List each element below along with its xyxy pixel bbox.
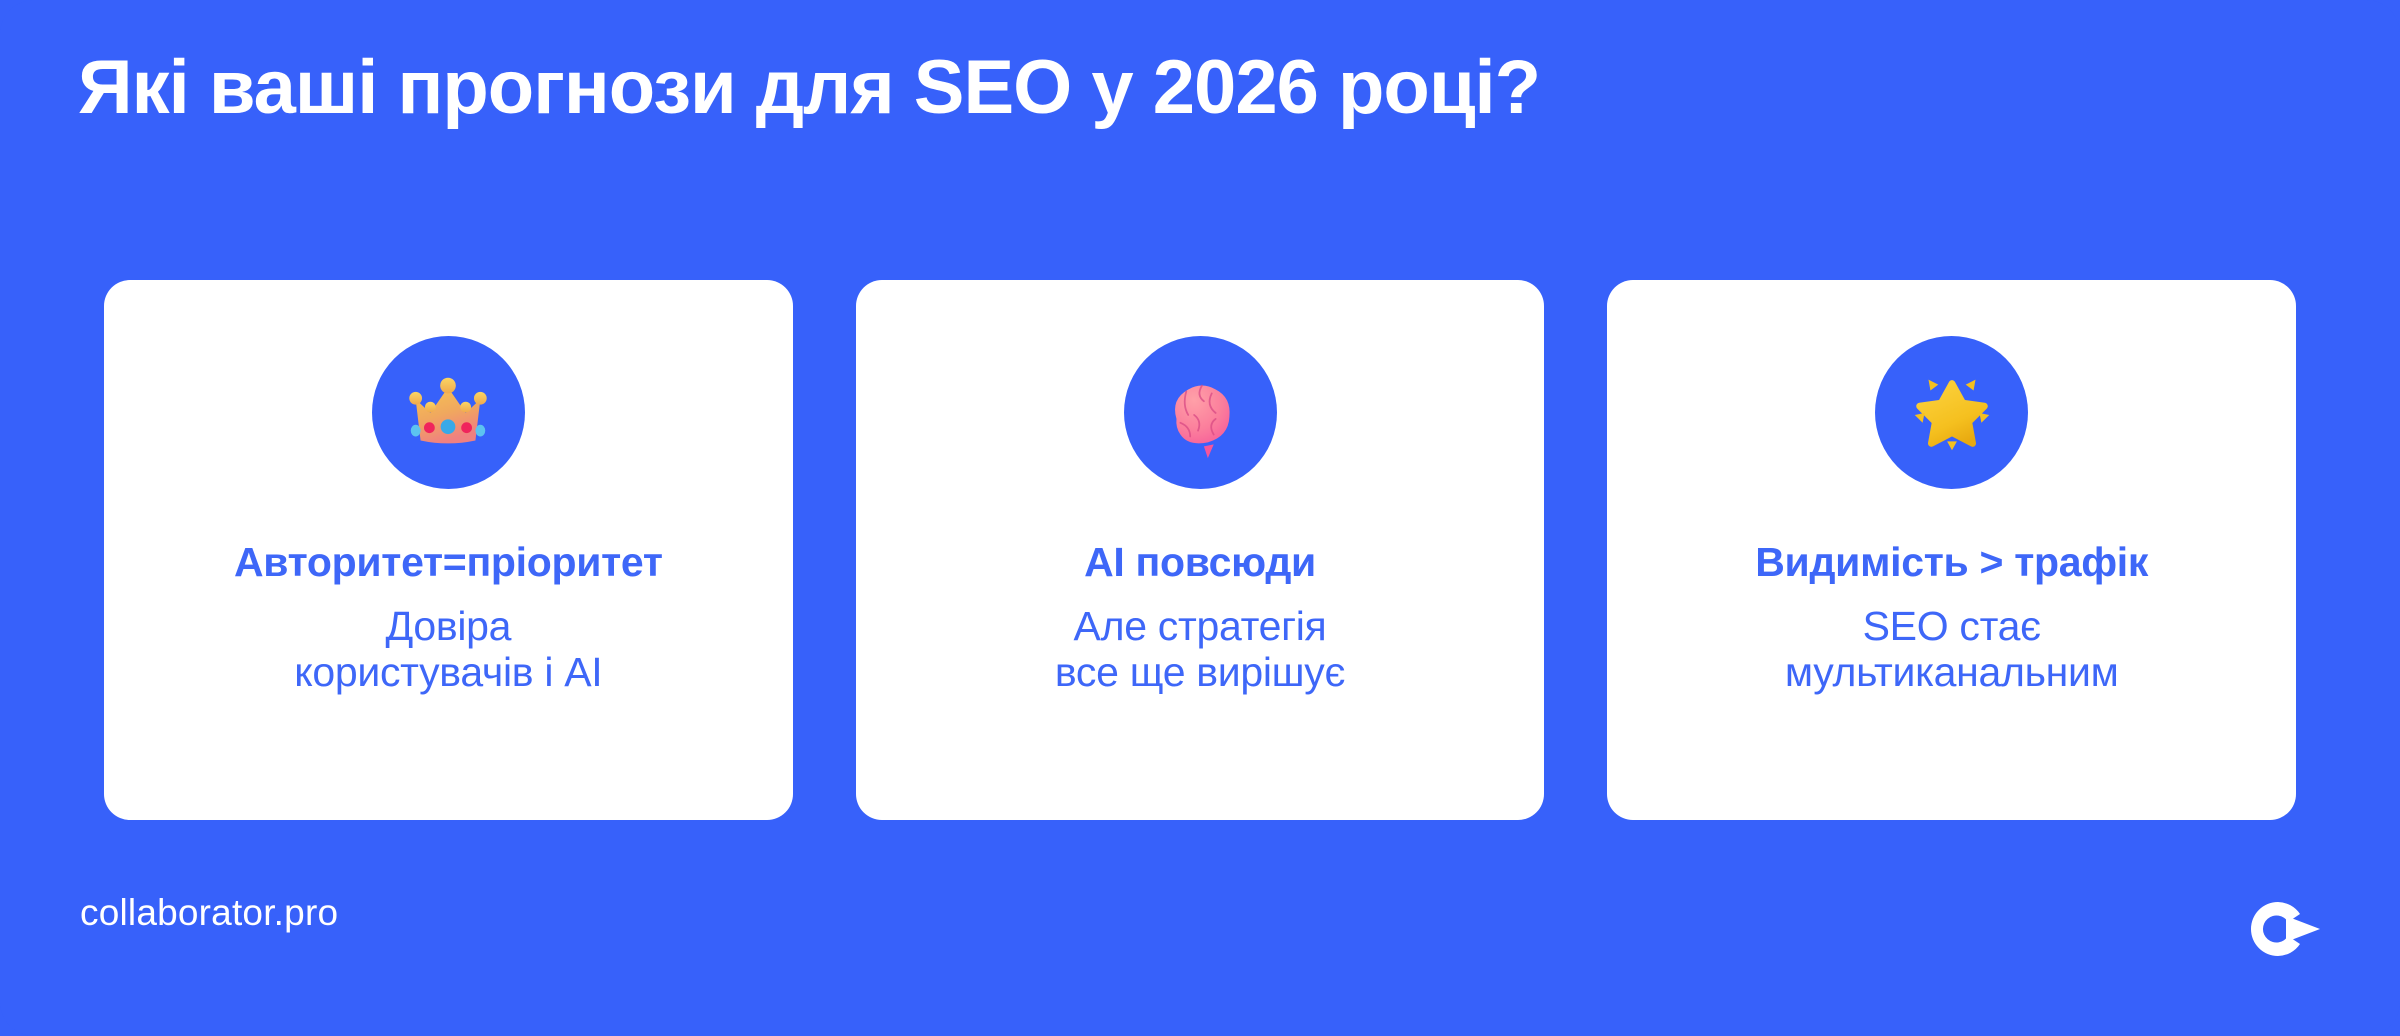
crown-emoji	[399, 364, 497, 462]
brain-emoji-badge	[1124, 336, 1277, 489]
prediction-card-2-body: Але стратегія все ще вирішує	[1037, 604, 1363, 696]
glowing-star-emoji	[1903, 364, 2001, 462]
prediction-card-1-body: Довіра користувачів і AI	[276, 604, 620, 696]
slide-canvas: Які ваші прогнози для SEO у 2026 році?	[0, 0, 2400, 1036]
brain-emoji	[1151, 364, 1249, 462]
prediction-card-3-body: SEO стає мультиканальним	[1767, 604, 2137, 696]
collaborator-logo-icon	[2248, 898, 2326, 960]
prediction-card-1-title: Авторитет=пріоритет	[234, 541, 663, 584]
prediction-card-3-title: Видимість > трафік	[1755, 541, 2148, 584]
crown-emoji-badge	[372, 336, 525, 489]
prediction-card-2-title: AI повсюди	[1084, 541, 1316, 584]
prediction-cards-row: Авторитет=пріоритет Довіра користувачів …	[104, 280, 2296, 820]
glowing-star-emoji-badge	[1875, 336, 2028, 489]
prediction-card-1[interactable]: Авторитет=пріоритет Довіра користувачів …	[104, 280, 793, 820]
footer-website-label[interactable]: collaborator.pro	[80, 892, 338, 934]
page-title: Які ваші прогнози для SEO у 2026 році?	[78, 50, 2318, 126]
prediction-card-3[interactable]: Видимість > трафік SEO стає мультиканаль…	[1607, 280, 2296, 820]
prediction-card-2[interactable]: AI повсюди Але стратегія все ще вирішує	[856, 280, 1545, 820]
